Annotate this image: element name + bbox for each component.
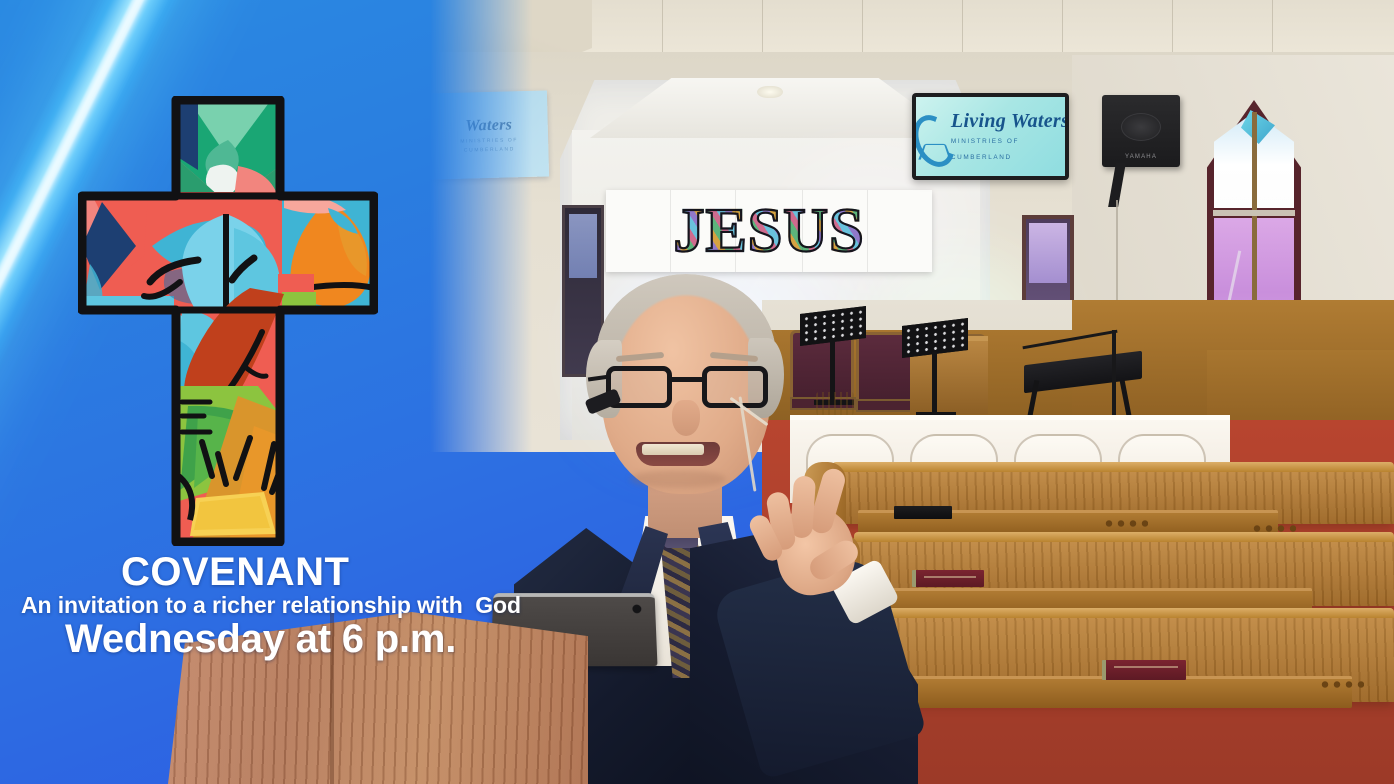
logo-line3: CUMBERLAND [951, 154, 1012, 161]
wall-sign-line3: CUMBERLAND [464, 146, 515, 153]
logo-line2: MINISTRIES OF [951, 138, 1019, 145]
microphone-stand [1112, 330, 1116, 426]
hymnal [1102, 660, 1186, 680]
wall-sign-title: Waters [465, 116, 512, 135]
stained-glass-cross [78, 96, 378, 546]
chin-shadow [630, 470, 726, 488]
tablet-camera [632, 605, 641, 614]
hymnal-rack [882, 676, 1352, 708]
ceiling-light-fixture [757, 86, 783, 98]
subtitle-invitation: An invitation to a richer relationship w… [21, 592, 521, 619]
jesus-wall-sign: JESUS [606, 190, 932, 272]
jesus-sign-text: JESUS [673, 200, 864, 262]
service-time: Wednesday at 6 p.m. [65, 617, 456, 662]
announcement-graphic: JESUS [0, 0, 1394, 784]
yamaha-speaker: YAMAHA [1102, 95, 1180, 167]
headline-covenant: COVENANT [121, 550, 349, 595]
living-waters-wave-icon [916, 112, 946, 162]
mouth [636, 442, 720, 466]
tv-screen: Living Waters MINISTRIES OF CUMBERLAND [916, 97, 1065, 176]
logo-title: Living Waters [951, 110, 1065, 132]
wall-sign-line2: MINISTRIES OF [460, 137, 518, 145]
eyeglasses [604, 366, 772, 410]
communion-cup-holder [1318, 680, 1364, 689]
communion-cup-holder [1102, 519, 1148, 528]
wall-sign-waters: Waters MINISTRIES OF CUMBERLAND [429, 90, 549, 179]
gesturing-hand [752, 462, 872, 602]
speaker-brand-label: YAMAHA [1102, 154, 1180, 160]
wall-mounted-tv: Living Waters MINISTRIES OF CUMBERLAND [912, 93, 1069, 180]
